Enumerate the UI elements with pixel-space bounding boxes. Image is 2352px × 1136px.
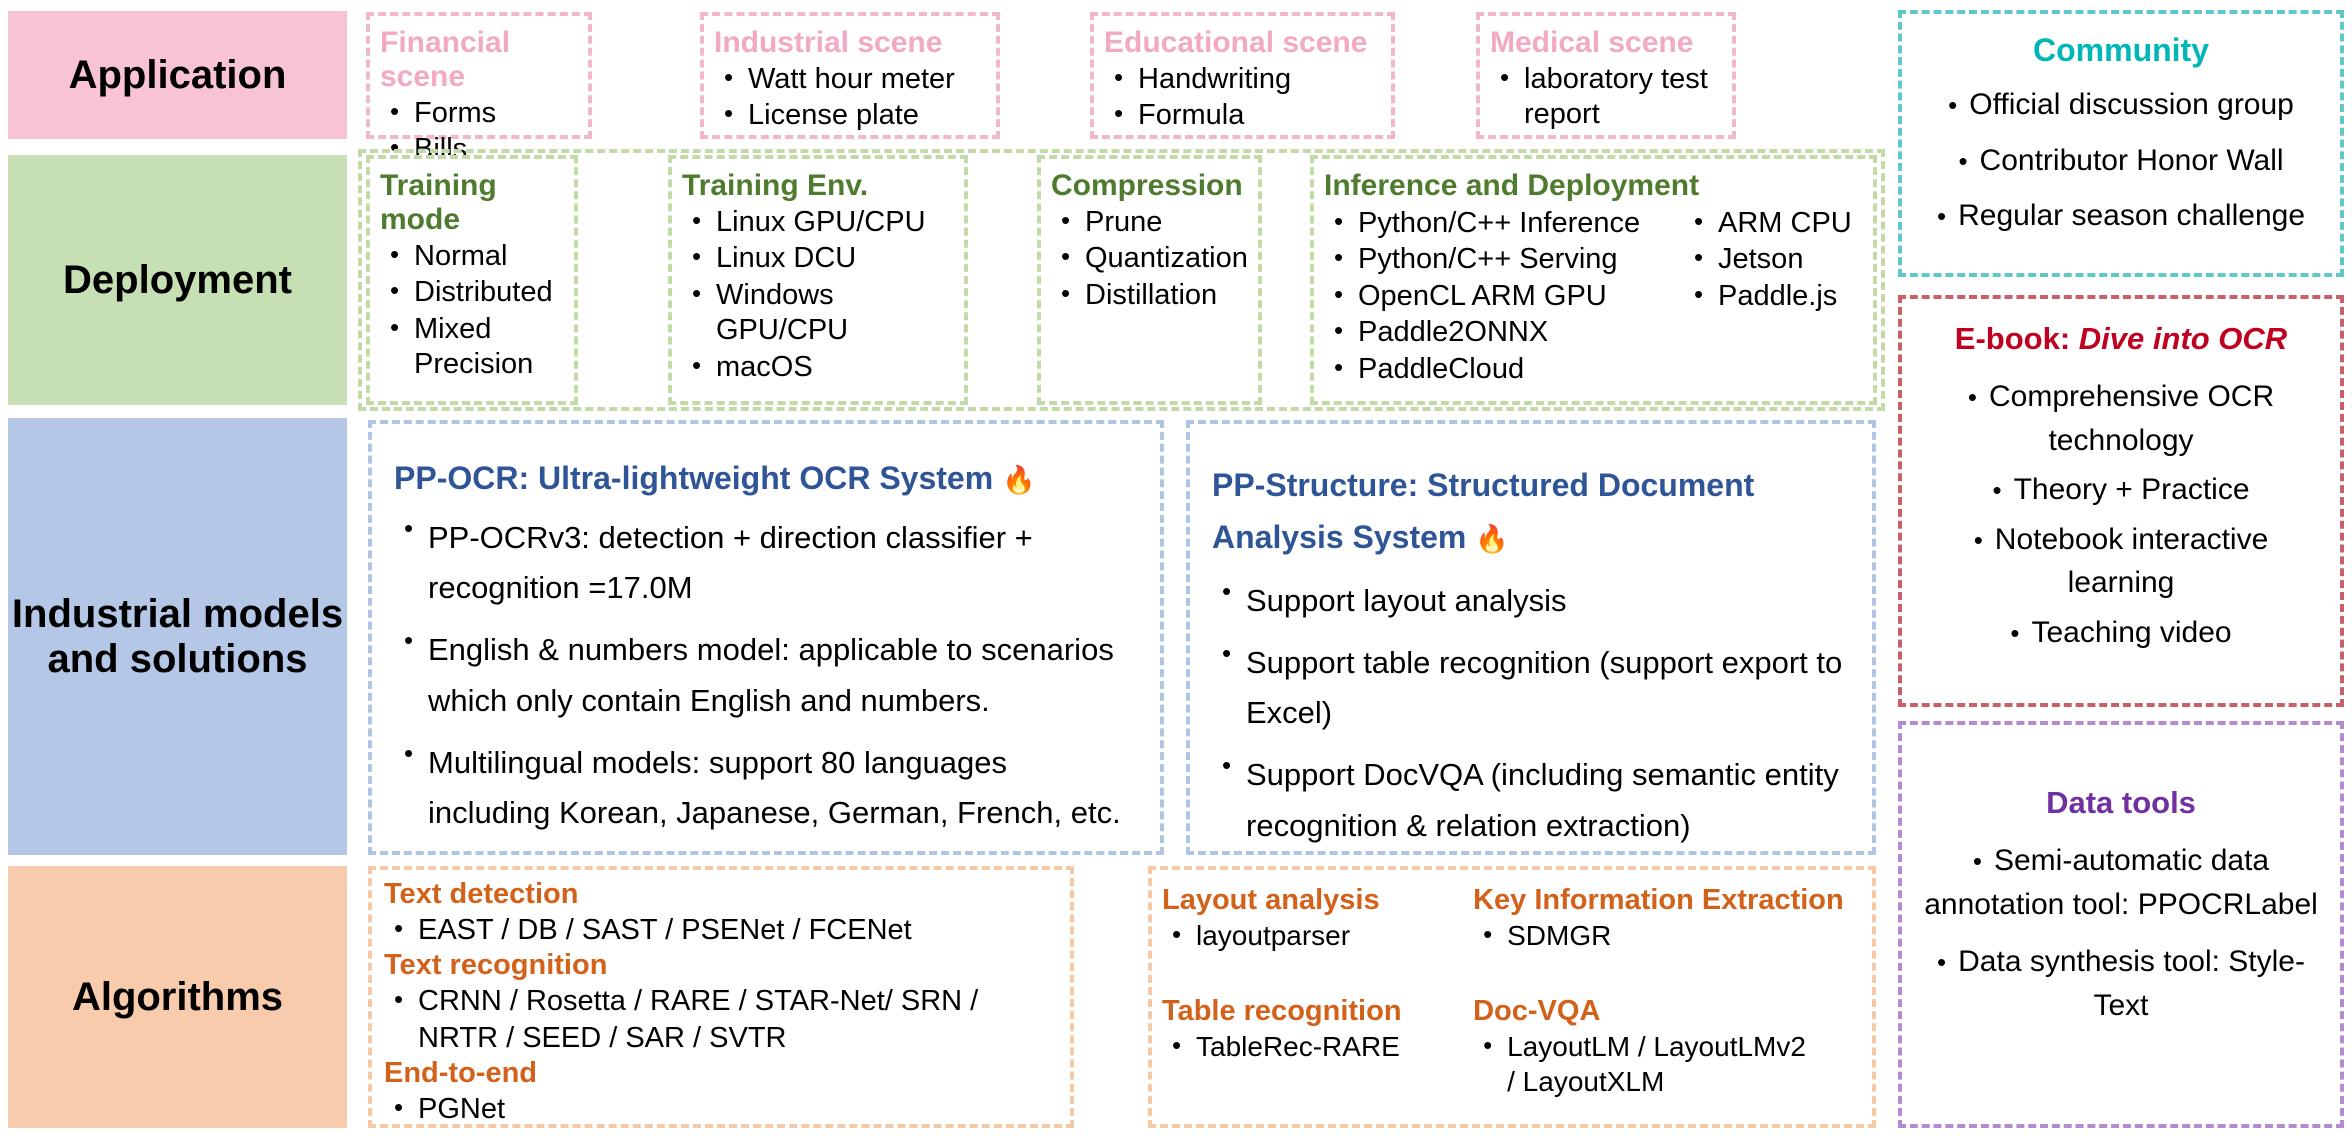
card-inference-and-deployment: Inference and Deployment Python/C++ Infe… — [1310, 155, 1877, 405]
list-item: Data synthesis tool: Style-Text — [1920, 940, 2322, 1027]
list-item: Windows GPU/CPU — [682, 278, 954, 349]
list-item: Prune — [1051, 205, 1248, 240]
list-item: PGNet — [384, 1092, 1058, 1127]
list-item: Linux DCU — [682, 241, 954, 276]
algorithms-structure-col-1: Layout analysis layoutparser Table recog… — [1162, 884, 1473, 1100]
list-item: Multilingual models: support 80 language… — [394, 738, 1134, 838]
card-title-training-env: Training Env. — [682, 169, 954, 203]
list-item: Contributor Honor Wall — [1918, 139, 2324, 183]
list-item: EAST / DB / SAST / PSENet / FCENet — [384, 913, 1058, 948]
card-title-community: Community — [1918, 32, 2324, 69]
fire-icon: 🔥 — [1002, 465, 1036, 495]
list-item: macOS — [682, 350, 954, 385]
paddleocr-overview-diagram: Application Deployment Industrial models… — [0, 0, 2352, 1136]
group-title-table-recognition: Table recognition — [1162, 995, 1473, 1028]
list-table-recognition: TableRec-RARE — [1162, 1030, 1473, 1064]
list-text-recognition: CRNN / Rosetta / RARE / STAR-Net/ SRN / … — [384, 984, 1058, 1056]
list-item: Quantization — [1051, 241, 1248, 276]
list-item: PP-OCRv3: detection + direction classifi… — [394, 513, 1134, 613]
card-training-mode: Training mode Normal Distributed Mixed P… — [366, 155, 578, 405]
list-item: SDMGR — [1473, 919, 1862, 953]
list-item: layoutparser — [1162, 919, 1473, 953]
card-compression: Compression Prune Quantization Distillat… — [1037, 155, 1262, 405]
list-inference-right: ARM CPU Jetson Paddle.js — [1684, 205, 1852, 388]
list-item: Distillation — [1051, 278, 1248, 313]
card-algorithms-structure: Layout analysis layoutparser Table recog… — [1148, 866, 1876, 1128]
list-pp-structure: Support layout analysis Support table re… — [1212, 576, 1850, 851]
list-item: Python/C++ Inference — [1324, 206, 1684, 241]
card-title-compression: Compression — [1051, 169, 1248, 203]
list-ebook: Comprehensive OCR technology Theory + Pr… — [1918, 375, 2324, 654]
category-label-application: Application — [69, 53, 287, 98]
list-inference-left: Python/C++ Inference Python/C++ Serving … — [1324, 205, 1684, 388]
category-band-industrial-models: Industrial models and solutions — [8, 418, 347, 855]
list-doc-vqa: LayoutLM / LayoutLMv2 / LayoutXLM — [1473, 1030, 1862, 1099]
list-end-to-end: PGNet — [384, 1092, 1058, 1127]
category-band-deployment: Deployment — [8, 155, 347, 405]
list-item: English & numbers model: applicable to s… — [394, 625, 1134, 725]
list-item: Python/C++ Serving — [1324, 242, 1684, 277]
card-medical-scene: Medical scene laboratory test report — [1476, 12, 1736, 139]
group-title-layout-analysis: Layout analysis — [1162, 884, 1473, 917]
list-training-env: Linux GPU/CPU Linux DCU Windows GPU/CPU … — [682, 205, 954, 385]
card-title-medical-scene: Medical scene — [1490, 26, 1722, 60]
list-key-information-extraction: SDMGR — [1473, 919, 1862, 953]
list-item: Watt hour meter — [714, 62, 986, 97]
category-label-algorithms: Algorithms — [72, 975, 283, 1020]
list-item: Normal — [380, 239, 564, 274]
list-item: Paddle.js — [1684, 279, 1852, 314]
card-title-pp-ocr: PP-OCR: Ultra-lightweight OCR System 🔥 — [394, 460, 1134, 497]
group-title-end-to-end: End-to-end — [384, 1057, 1058, 1090]
list-item: laboratory test report — [1490, 62, 1722, 133]
card-ebook: E-book: Dive into OCR Comprehensive OCR … — [1898, 295, 2344, 707]
card-financial-scene: Financial scene Forms Bills — [366, 12, 592, 139]
group-title-doc-vqa: Doc-VQA — [1473, 995, 1862, 1028]
card-title-pp-structure: PP-Structure: Structured Document Analys… — [1212, 460, 1850, 564]
card-training-env: Training Env. Linux GPU/CPU Linux DCU Wi… — [668, 155, 968, 405]
card-title-educational-scene: Educational scene — [1104, 26, 1381, 60]
list-item: Formula — [1104, 98, 1381, 133]
list-item: ARM CPU — [1684, 206, 1852, 241]
category-label-deployment: Deployment — [63, 258, 292, 303]
algorithms-structure-col-2: Key Information Extraction SDMGR Doc-VQA… — [1473, 884, 1862, 1100]
group-title-key-information-extraction: Key Information Extraction — [1473, 884, 1862, 917]
list-item: Forms — [380, 96, 578, 131]
list-text-detection: EAST / DB / SAST / PSENet / FCENet — [384, 913, 1058, 948]
list-compression: Prune Quantization Distillation — [1051, 205, 1248, 313]
list-educational-scene: Handwriting Formula — [1104, 62, 1381, 134]
list-item: Regular season challenge — [1918, 194, 2324, 238]
card-title-ebook-book-name: Dive into OCR — [2079, 321, 2287, 356]
list-item: Official discussion group — [1918, 83, 2324, 127]
card-title-ebook: E-book: Dive into OCR — [1918, 321, 2324, 357]
list-item: OpenCL ARM GPU — [1324, 279, 1684, 314]
category-label-industrial-models: Industrial models and solutions — [8, 592, 347, 682]
list-item: Support DocVQA (including semantic entit… — [1212, 750, 1850, 850]
list-item: TableRec-RARE — [1162, 1030, 1473, 1064]
list-data-tools: Semi-automatic data annotation tool: PPO… — [1920, 839, 2322, 1027]
card-algorithms-core: Text detection EAST / DB / SAST / PSENet… — [368, 866, 1074, 1128]
card-title-inference-and-deployment: Inference and Deployment — [1324, 169, 1863, 203]
list-item: Notebook interactive learning — [1918, 518, 2324, 605]
list-item: Support layout analysis — [1212, 576, 1850, 626]
list-training-mode: Normal Distributed Mixed Precision — [380, 239, 564, 383]
list-item: LayoutLM / LayoutLMv2 — [1473, 1030, 1862, 1064]
card-title-pp-ocr-text: PP-OCR: Ultra-lightweight OCR System — [394, 460, 993, 496]
card-pp-structure: PP-Structure: Structured Document Analys… — [1186, 420, 1876, 855]
group-title-text-detection: Text detection — [384, 878, 1058, 911]
list-item: CRNN / Rosetta / RARE / STAR-Net/ SRN / — [384, 984, 1058, 1019]
list-item: Handwriting — [1104, 62, 1381, 97]
card-community: Community Official discussion group Cont… — [1898, 10, 2344, 277]
card-title-data-tools: Data tools — [1920, 785, 2322, 821]
fire-icon: 🔥 — [1475, 524, 1509, 554]
category-band-algorithms: Algorithms — [8, 866, 347, 1128]
list-item-continuation: NRTR / SEED / SAR / SVTR — [384, 1021, 1058, 1056]
list-item: Semi-automatic data annotation tool: PPO… — [1920, 839, 2322, 926]
list-medical-scene: laboratory test report — [1490, 62, 1722, 133]
card-industrial-scene: Industrial scene Watt hour meter License… — [700, 12, 1000, 139]
list-item-continuation: / LayoutXLM — [1473, 1065, 1862, 1099]
list-pp-ocr: PP-OCRv3: detection + direction classifi… — [394, 513, 1134, 838]
list-item: PaddleCloud — [1324, 352, 1684, 387]
card-title-industrial-scene: Industrial scene — [714, 26, 986, 60]
category-band-application: Application — [8, 11, 347, 139]
list-item: License plate — [714, 98, 986, 133]
list-item: Teaching video — [1918, 611, 2324, 655]
list-industrial-scene: Watt hour meter License plate — [714, 62, 986, 134]
list-item: Paddle2ONNX — [1324, 315, 1684, 350]
card-data-tools: Data tools Semi-automatic data annotatio… — [1898, 721, 2344, 1128]
list-item: Distributed — [380, 275, 564, 310]
card-pp-ocr: PP-OCR: Ultra-lightweight OCR System 🔥 P… — [368, 420, 1164, 855]
group-title-text-recognition: Text recognition — [384, 949, 1058, 982]
list-item: Theory + Practice — [1918, 468, 2324, 512]
list-community: Official discussion group Contributor Ho… — [1918, 83, 2324, 238]
card-title-ebook-prefix: E-book: — [1955, 321, 2079, 356]
card-title-training-mode: Training mode — [380, 169, 564, 237]
list-item: Support table recognition (support expor… — [1212, 638, 1850, 738]
list-layout-analysis: layoutparser — [1162, 919, 1473, 953]
card-educational-scene: Educational scene Handwriting Formula — [1090, 12, 1395, 139]
list-item: Comprehensive OCR technology — [1918, 375, 2324, 462]
card-title-financial-scene: Financial scene — [380, 26, 578, 94]
list-item: Linux GPU/CPU — [682, 205, 954, 240]
list-item: Mixed Precision — [380, 312, 564, 383]
list-item: Jetson — [1684, 242, 1852, 277]
